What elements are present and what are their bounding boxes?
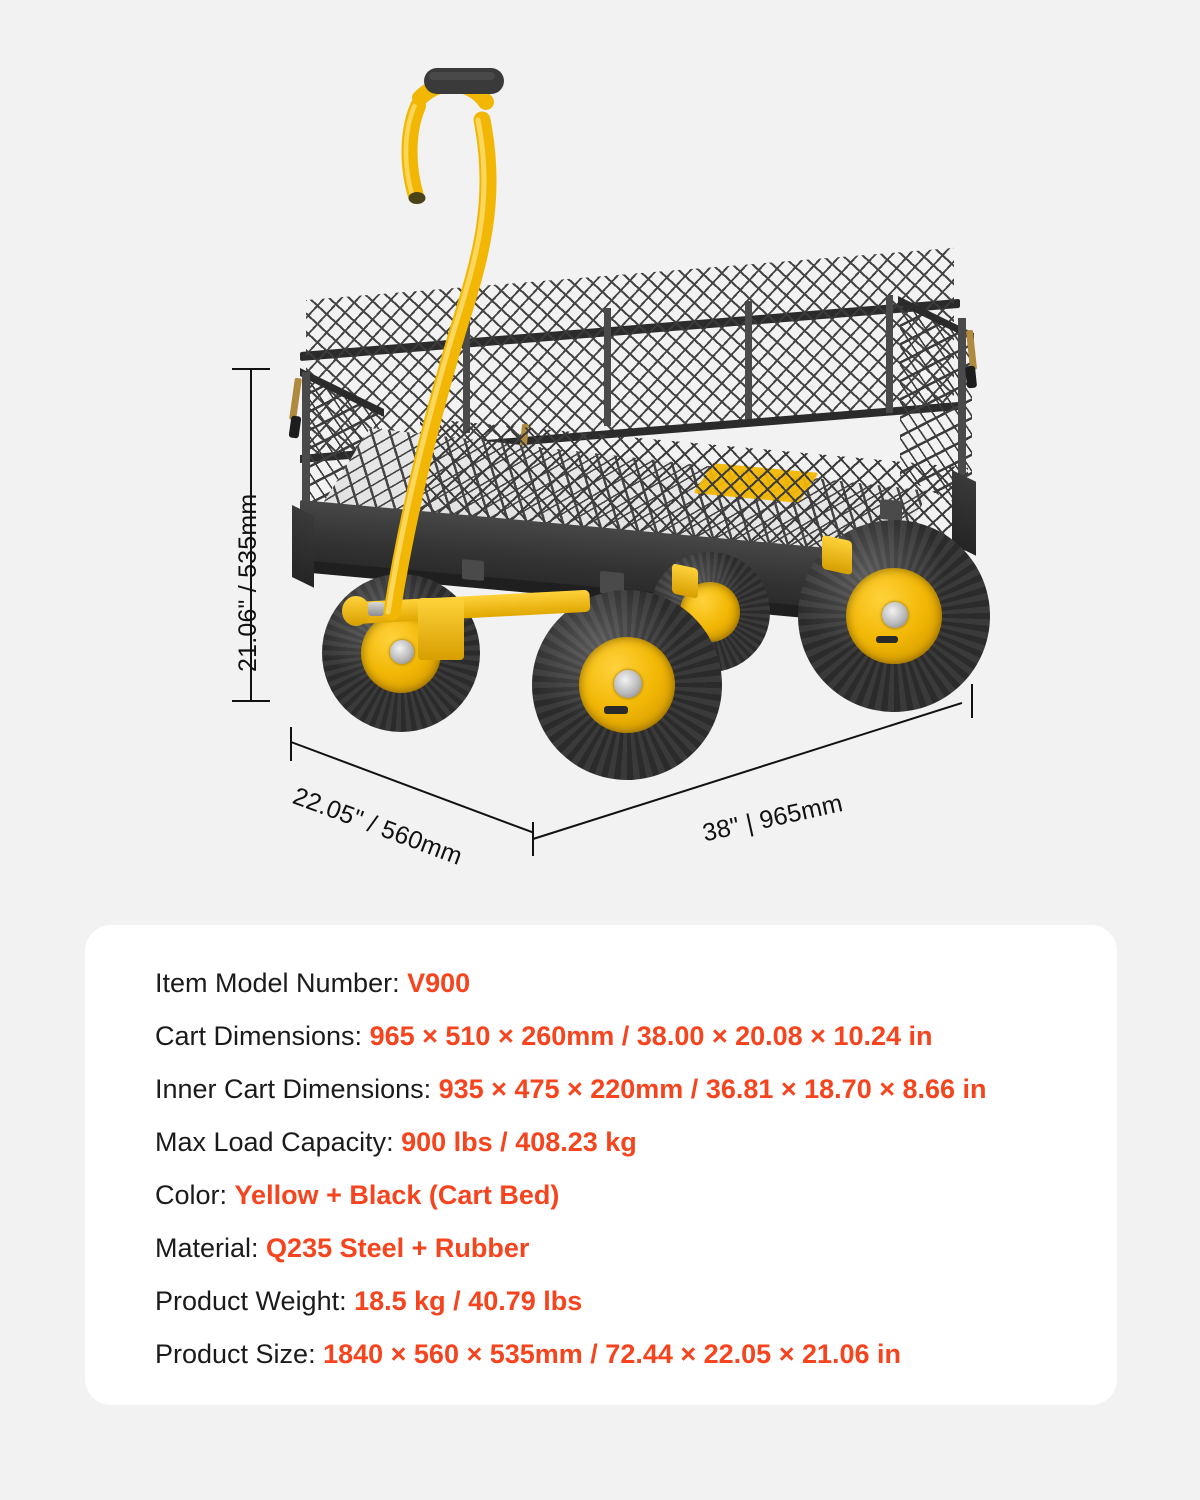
latch-tip-right [965,366,977,389]
spec-value: Q235 Steel + Rubber [266,1233,529,1263]
bed-apron-left-end [292,505,314,588]
spec-row: Cart Dimensions: 965 × 510 × 260mm / 38.… [155,1010,987,1063]
hub-front-right [614,670,642,698]
product-image-scene: 21.06" / 535mm 22.05" / 560mm 38" | 965m… [0,0,1200,910]
spec-label: Product Weight: [155,1286,354,1316]
spec-row: Product Size: 1840 × 560 × 535mm / 72.44… [155,1328,987,1381]
hub-front-left [390,640,414,664]
height-dimension-label: 21.06" / 535mm [234,494,263,672]
spec-label: Color: [155,1180,235,1210]
bed-post-3 [745,301,752,419]
utility-cart-illustration [0,0,1200,910]
rear-wheel-bracket-left [672,563,698,599]
specification-card: Item Model Number: V900Cart Dimensions: … [85,925,1117,1405]
spec-row: Max Load Capacity: 900 lbs / 408.23 kg [155,1116,987,1169]
spec-label: Material: [155,1233,266,1263]
width-tick-start [532,822,534,856]
apron-hinge-tab-3 [880,499,902,521]
spec-row: Color: Yellow + Black (Cart Bed) [155,1169,987,1222]
specification-list: Item Model Number: V900Cart Dimensions: … [155,957,987,1381]
valve-rear-right [876,636,898,643]
width-tick-end [971,684,973,718]
valve-front-right [604,706,628,714]
spec-label: Max Load Capacity: [155,1127,401,1157]
spec-value: Yellow + Black (Cart Bed) [235,1180,560,1210]
spec-value: 900 lbs / 408.23 kg [401,1127,637,1157]
bed-post-2 [604,308,611,426]
rear-wheel-bracket-right [822,535,852,575]
latch-pin-left [289,378,302,421]
height-tick-bottom [232,700,270,702]
latch-tip-left [289,415,302,438]
pull-handle [330,60,570,640]
depth-tick-start [290,727,292,761]
spec-row: Material: Q235 Steel + Rubber [155,1222,987,1275]
spec-label: Cart Dimensions: [155,1021,370,1051]
spec-value: V900 [407,968,470,998]
spec-value: 1840 × 560 × 535mm / 72.44 × 22.05 × 21.… [323,1339,901,1369]
bed-post-4 [886,295,893,413]
spec-row: Item Model Number: V900 [155,957,987,1010]
spec-value: 965 × 510 × 260mm / 38.00 × 20.08 × 10.2… [370,1021,933,1051]
hub-rear-right [882,602,908,628]
spec-row: Inner Cart Dimensions: 935 × 475 × 220mm… [155,1063,987,1116]
spec-value: 935 × 475 × 220mm / 36.81 × 18.70 × 8.66… [439,1074,987,1104]
spec-row: Product Weight: 18.5 kg / 40.79 lbs [155,1275,987,1328]
spec-label: Item Model Number: [155,968,407,998]
height-tick-top [232,368,270,370]
product-spec-page: 21.06" / 535mm 22.05" / 560mm 38" | 965m… [0,0,1200,1500]
spec-label: Inner Cart Dimensions: [155,1074,439,1104]
spec-value: 18.5 kg / 40.79 lbs [354,1286,582,1316]
spec-label: Product Size: [155,1339,323,1369]
